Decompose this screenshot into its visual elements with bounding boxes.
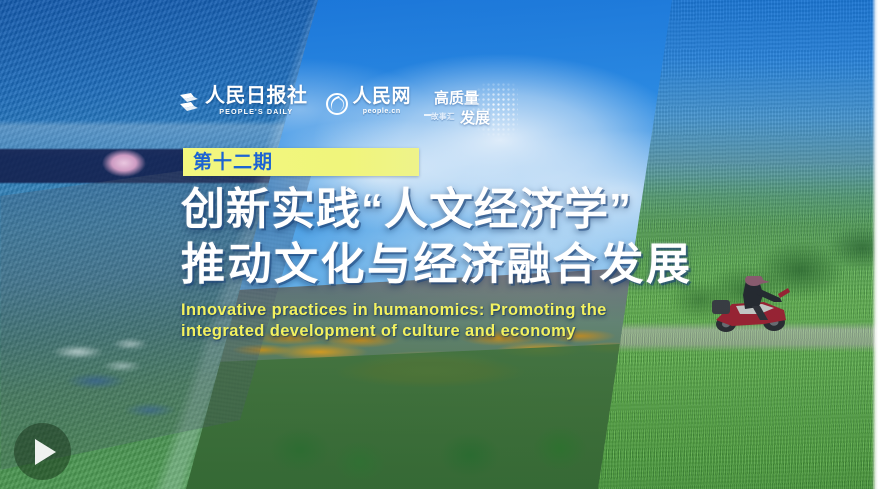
series-badge-small-label: 故事汇 (431, 111, 455, 122)
video-poster: 人民日报社 PEOPLE'S DAILY 人民网 people.cn (0, 0, 878, 489)
headline-block: 创新实践“人文经济学” 推动文化与经济融合发展 (181, 182, 693, 292)
people-cn-name-cn: 人民网 (353, 87, 412, 106)
peoples-daily-logo: 人民日报社 PEOPLE'S DAILY (178, 86, 308, 115)
play-button[interactable] (14, 423, 71, 480)
play-icon (35, 439, 56, 465)
series-badge: 高质量 故事汇 发展 (428, 80, 520, 138)
brand-logo-row: 人民日报社 PEOPLE'S DAILY 人民网 people.cn (178, 86, 411, 115)
subtitle-line-2: integrated development of culture and ec… (181, 321, 607, 342)
people-cn-name-en: people.cn (363, 108, 401, 115)
peoples-daily-mark-icon (178, 91, 200, 115)
peoples-daily-name-cn: 人民日报社 (205, 86, 308, 106)
headline-line-1: 创新实践“人文经济学” (181, 182, 693, 237)
series-badge-line-top: 高质量 (434, 87, 479, 108)
people-cn-logo: 人民网 people.cn (326, 87, 412, 115)
subtitle-block: Innovative practices in humanomics: Prom… (181, 300, 607, 342)
peoples-daily-name-en: PEOPLE'S DAILY (219, 108, 293, 115)
people-cn-mark-icon (326, 93, 348, 115)
issue-number-bar: 第十二期 (183, 148, 419, 176)
series-badge-line-bottom: 发展 (460, 107, 490, 128)
issue-number-label: 第十二期 (193, 153, 273, 172)
subtitle-line-1: Innovative practices in humanomics: Prom… (181, 300, 607, 321)
headline-line-2: 推动文化与经济融合发展 (181, 237, 693, 292)
